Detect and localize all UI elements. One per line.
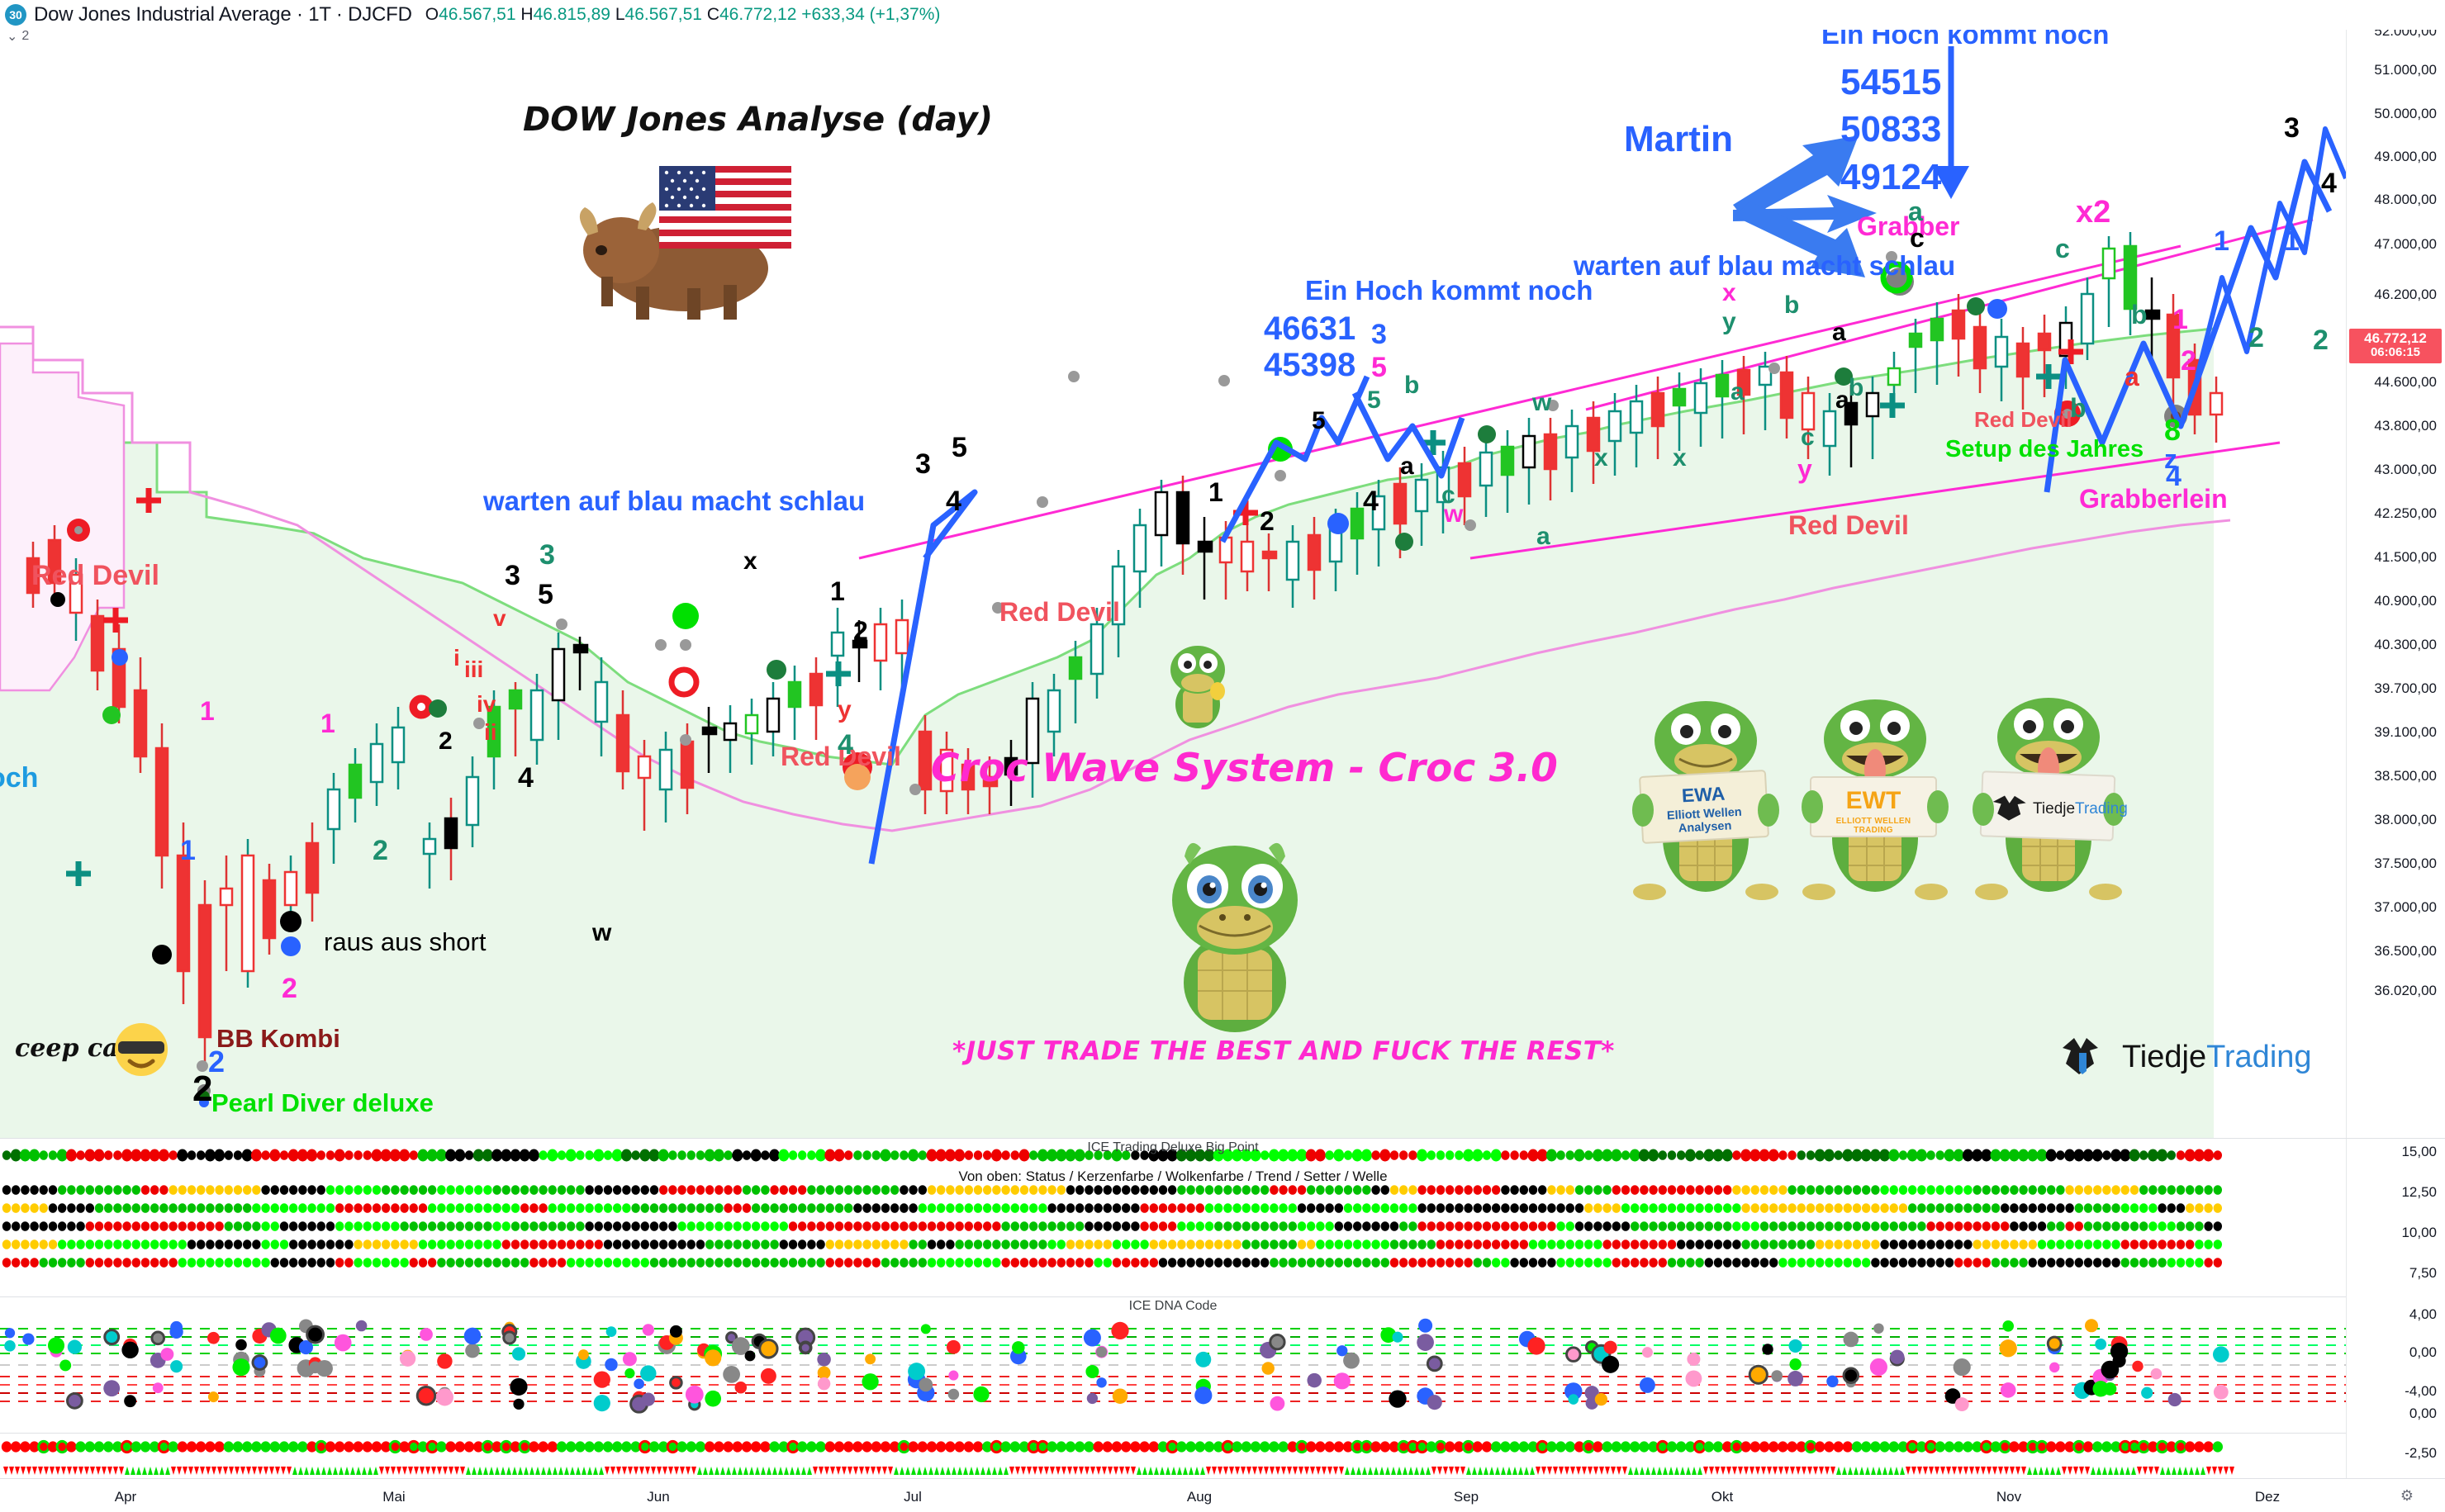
wave-label-a2: a (1536, 524, 1550, 549)
high-label: H (520, 5, 533, 24)
momentum-pane-title: Momentum Status Indicator (0, 1434, 2346, 1437)
wave-label-4f: 4 (2321, 169, 2337, 197)
wave-label-c4: c (2055, 235, 2070, 262)
pane-divider-3 (0, 1433, 2445, 1434)
x2-label: x2 (2076, 197, 2110, 228)
wave-label-3c: 3 (915, 450, 931, 478)
price-tick: 46.200,00 (2374, 287, 2437, 303)
time-tick-okt: Okt (1711, 1489, 1733, 1505)
hoch-label-left: och (0, 764, 38, 792)
wave-label-5a: 5 (538, 581, 553, 609)
price-tick: 40.300,00 (2374, 637, 2437, 653)
big-point-pane-subtitle: Von oben: Status / Kerzenfarbe / Wolkenf… (0, 1168, 2346, 1185)
logo-accent-text: Trading (2206, 1040, 2311, 1074)
wave-label-2e: 2 (208, 1047, 225, 1077)
wave-label-w1: w (592, 921, 611, 946)
wave-label-1e: 1 (1208, 479, 1223, 505)
price-tick: 47.000,00 (2374, 236, 2437, 253)
wave-label-y3: y (1797, 456, 1812, 482)
wave-label-b3: b (1849, 376, 1863, 401)
slogan-label: *JUST TRADE THE BEST AND FUCK THE REST* (952, 1039, 1615, 1064)
indicator-tick: 0,00 (2409, 1405, 2437, 1422)
indicator-tick: -4,00 (2405, 1383, 2437, 1400)
wave-label-c2: c (1910, 225, 1925, 251)
wave-label-1f: 1 (2172, 306, 2188, 334)
high-value: 46.815,89 (534, 5, 610, 24)
price-tick: 38.000,00 (2374, 812, 2437, 828)
wave-label-8: 8 (2164, 415, 2181, 445)
wave-label-ii: ii (484, 721, 497, 744)
wave-label-a1: a (1400, 454, 1414, 479)
wave-label-5b: 5 (952, 434, 967, 462)
dna-pane-title: ICE DNA Code (0, 1299, 2346, 1314)
ewt-sign-sub: ELLIOTT WELLEN TRADING (1819, 817, 1928, 835)
wave-label-4a: 4 (518, 764, 534, 792)
wave-label-a3: a (1730, 380, 1745, 405)
legend-count: 2 (21, 29, 29, 44)
price-axis[interactable]: USD ⌄ 52.000,00 51.000,00 50.000,00 49.0… (2346, 0, 2445, 1138)
wave-label-iii: iii (464, 658, 483, 681)
price-tick: 43.000,00 (2374, 462, 2437, 478)
momentum-status-indicator-pane[interactable]: Momentum Status Indicator (0, 1434, 2346, 1479)
martin-target-54515: 54515 (1840, 64, 1941, 101)
legend-collapse-row[interactable]: ⌄ 2 (7, 28, 29, 45)
gear-icon[interactable]: ⚙ (2400, 1487, 2414, 1505)
price-tick: 39.700,00 (2374, 680, 2437, 697)
time-tick-dez: Dez (2255, 1489, 2280, 1505)
wave-label-5c: 5 (1371, 353, 1387, 382)
wave-label-2j: 2 (2313, 326, 2329, 354)
martin-label: Martin (1624, 121, 1733, 158)
price-tick: 37.000,00 (2374, 899, 2437, 916)
wave-label-2h: 2 (2181, 347, 2196, 375)
bb-kombi-label: BB Kombi (216, 1026, 340, 1051)
open-label: O (425, 5, 439, 24)
warten-auf-blau-label-2: warten auf blau macht schlau (1574, 252, 1955, 279)
price-tick: 40.900,00 (2374, 593, 2437, 609)
wave-label-3e: 3 (2284, 114, 2300, 142)
red-devil-label-4: Red Devil (1788, 512, 1909, 538)
bull-flag-image (562, 161, 818, 322)
wave-label-2a: 2 (373, 837, 388, 865)
wave-label-x3: x (1673, 446, 1687, 471)
wave-label-2c: 2 (282, 974, 297, 1002)
wave-label-w3: w (1532, 391, 1551, 415)
open-value: 46.567,51 (439, 5, 515, 24)
red-devil-label-1: Red Devil (31, 562, 159, 590)
indicator-tick: -2,50 (2405, 1445, 2437, 1462)
wave-label-b2: b (1784, 293, 1799, 318)
target-46631: 46631 (1264, 312, 1355, 345)
wave-label-w2: w (1444, 502, 1463, 527)
bull-logo-icon (2061, 1036, 2112, 1078)
close-value: 46.772,12 (719, 5, 796, 24)
close-label: C (707, 5, 719, 24)
wave-label-3d: 3 (1371, 320, 1387, 348)
change-value: +633,34 (+1,37%) (801, 5, 940, 24)
wave-label-b5: b (2070, 395, 2087, 421)
price-tick: 36.020,00 (2374, 983, 2437, 999)
chevron-down-icon[interactable]: ⌄ (7, 28, 17, 45)
ice-dna-code-pane[interactable]: ICE DNA Code (0, 1297, 2346, 1433)
time-tick-sep: Sep (1454, 1489, 1479, 1505)
wave-label-4e: 4 (2166, 462, 2182, 491)
wave-label-2i: 2 (2248, 324, 2264, 352)
target-45398: 45398 (1264, 348, 1355, 382)
warten-auf-blau-label-1: warten auf blau macht schlau (483, 487, 865, 514)
wave-label-a5: a (1835, 388, 1849, 413)
symbol-title[interactable]: Dow Jones Industrial Average · 1T · DJCF… (34, 3, 412, 26)
wave-label-y2: y (1722, 310, 1736, 334)
croc-mascot-ewt: EWT ELLIOTT WELLEN TRADING (1801, 698, 1949, 900)
croc-mascot-small-image (1156, 640, 1239, 731)
wave-label-1c: 1 (180, 837, 196, 865)
chart-header-bar: 30 Dow Jones Industrial Average · 1T · D… (0, 0, 2445, 30)
wave-label-i: i (453, 647, 460, 670)
wave-label-c3: c (1801, 425, 1815, 450)
indicator-tick: 4,00 (2409, 1306, 2437, 1323)
wave-label-5d: 5 (1367, 388, 1381, 413)
croc-mascot-brand: TiedjeTrading (1970, 698, 2127, 900)
indicator-axis: 15,00 12,50 10,00 7,50 4,00 0,00 -4,00 0… (2346, 1139, 2445, 1479)
red-devil-label-2: Red Devil (999, 599, 1120, 625)
ewt-sign-main: EWT (1819, 787, 1928, 815)
croc-mascot-center-image (1140, 822, 1330, 1036)
wave-label-x2: x (1594, 446, 1608, 471)
price-tick: 42.250,00 (2374, 505, 2437, 522)
wave-label-x1: x (743, 549, 757, 574)
time-axis[interactable]: Apr Mai Jun Jul Aug Sep Okt Nov Dez ⚙ (0, 1478, 2445, 1512)
time-tick-mai: Mai (382, 1489, 405, 1505)
pane-divider-2 (0, 1296, 2445, 1297)
big-point-pane-title: ICE Trading Deluxe Big Point (0, 1140, 2346, 1155)
wave-label-2f: 2 (853, 618, 868, 644)
indicator-tick: 15,00 (2401, 1144, 2437, 1160)
brand-sign-main: Tiedje (2033, 800, 2075, 818)
wave-label-a4: a (1832, 320, 1846, 345)
ohlc-readout: O46.567,51 H46.815,89 L46.567,51 C46.772… (425, 5, 941, 25)
wave-label-1a: 1 (200, 698, 215, 724)
wave-label-v: v (493, 607, 506, 630)
price-tick: 36.500,00 (2374, 943, 2437, 960)
price-tick: 41.500,00 (2374, 549, 2437, 566)
croc-wave-system-title: Croc Wave System - Croc 3.0 (931, 749, 1558, 788)
price-tick: 39.100,00 (2374, 724, 2437, 741)
wave-label-b4: b (2131, 301, 2148, 328)
time-tick-apr: Apr (115, 1489, 136, 1505)
wave-label-b1: b (1404, 373, 1419, 398)
time-tick-nov: Nov (1996, 1489, 2021, 1505)
ice-trading-deluxe-big-point-pane[interactable]: ICE Trading Deluxe Big Point Von oben: S… (0, 1139, 2346, 1296)
indicator-tick: 10,00 (2401, 1225, 2437, 1241)
time-tick-jun: Jun (647, 1489, 669, 1505)
wave-label-y1: y (838, 698, 852, 723)
price-tick: 48.000,00 (2374, 192, 2437, 208)
price-tick: 44.600,00 (2374, 374, 2437, 391)
brand-sign-accent: Trading (2075, 800, 2128, 818)
wave-label-1d: 1 (830, 578, 845, 604)
martin-target-50833: 50833 (1840, 111, 1941, 148)
price-tick: 50.000,00 (2374, 106, 2437, 122)
current-price-time: 06:06:15 (2349, 346, 2442, 359)
wave-label-4d: 4 (1363, 487, 1379, 515)
time-tick-aug: Aug (1187, 1489, 1212, 1505)
indicator-tick: 7,50 (2409, 1265, 2437, 1282)
wave-label-4c: 4 (946, 487, 961, 515)
raus-aus-short-label: raus aus short (324, 929, 486, 955)
red-devil-label-5: Red Devil (1974, 409, 2072, 430)
low-label: L (615, 5, 625, 24)
ein-hoch-label-1: Ein Hoch kommt noch (1305, 277, 1593, 304)
pane-divider-1 (0, 1138, 2445, 1139)
wave-label-1b: 1 (320, 710, 335, 737)
wave-label-a6: a (1908, 198, 1923, 225)
price-tick: 49.000,00 (2374, 149, 2437, 165)
wave-label-3b: 3 (539, 541, 555, 569)
wave-label-2b: 2 (439, 729, 453, 754)
wave-label-1h: 1 (2284, 227, 2300, 255)
wave-label-x4: x (1722, 281, 1736, 306)
current-price-value: 46.772,12 (2349, 331, 2442, 346)
wave-label-a7: a (2125, 363, 2139, 390)
low-value: 46.567,51 (625, 5, 702, 24)
wave-label-3a: 3 (505, 562, 520, 590)
price-tick: 43.800,00 (2374, 418, 2437, 434)
sunglasses-emoji-icon (112, 1020, 171, 1088)
wave-label-4b: 4 (838, 731, 853, 759)
logo-main-text: Tiedje (2122, 1040, 2206, 1074)
chart-title-annotation: DOW Jones Analyse (day) (523, 103, 993, 136)
setup-des-jahres-label: Setup des Jahres (1945, 438, 2144, 462)
pearl-diver-label: Pearl Diver deluxe (211, 1090, 434, 1116)
indicator-tick: 0,00 (2409, 1344, 2437, 1361)
martin-target-49124: 49124 (1840, 159, 1941, 196)
current-price-badge: 46.772,12 06:06:15 (2349, 329, 2442, 363)
price-tick: 51.000,00 (2374, 62, 2437, 78)
price-tick: 37.500,00 (2374, 856, 2437, 872)
wave-label-2g: 2 (1260, 508, 1275, 534)
croc-mascot-ewa: EWA Elliott Wellen Analysen (1631, 698, 1780, 900)
ewa-sign-main: EWA (1646, 780, 1759, 808)
wave-label-iv: iv (477, 693, 496, 716)
indicator-tick: 12,50 (2401, 1184, 2437, 1201)
wave-label-1g: 1 (2214, 227, 2229, 255)
grabberlein-label: Grabberlein (2079, 486, 2228, 512)
wave-label-5e: 5 (1312, 409, 1326, 434)
price-tick: 38.500,00 (2374, 768, 2437, 784)
symbol-badge-icon: 30 (5, 4, 26, 26)
time-tick-jul: Jul (904, 1489, 922, 1505)
tiedje-trading-logo: TiedjeTrading (2061, 1036, 2312, 1078)
